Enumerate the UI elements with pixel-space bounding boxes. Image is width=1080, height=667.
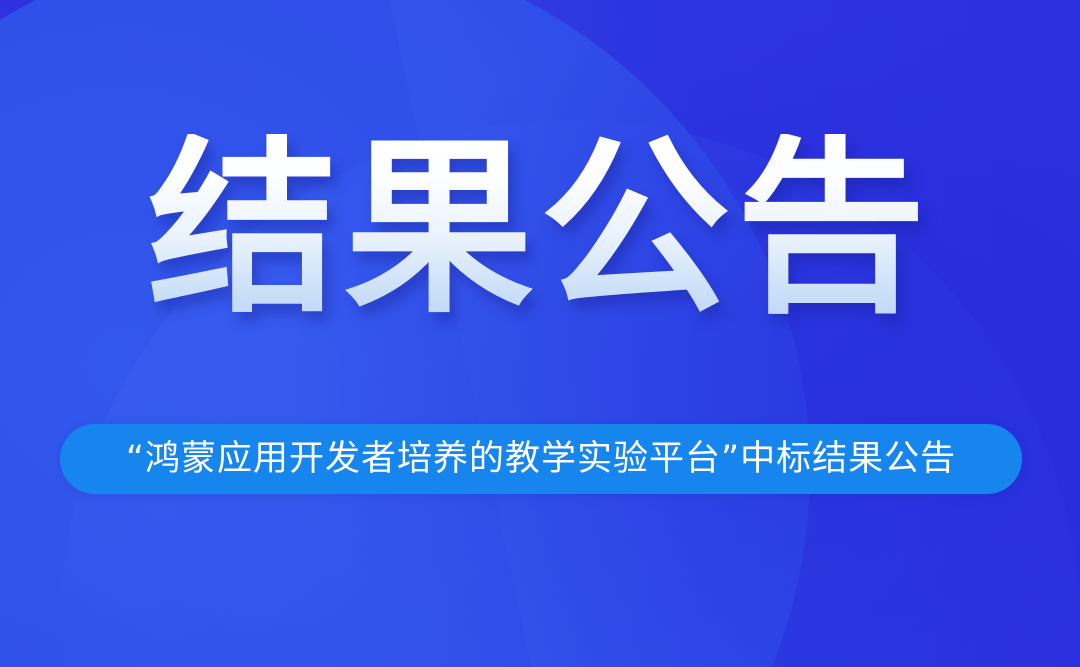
announcement-banner: 结果公告 “鸿蒙应用开发者培养的教学实验平台”中标结果公告 bbox=[0, 0, 1080, 667]
subtitle-pill: “鸿蒙应用开发者培养的教学实验平台”中标结果公告 bbox=[60, 424, 1022, 494]
page-title: 结果公告 bbox=[148, 134, 932, 324]
subtitle-text: “鸿蒙应用开发者培养的教学实验平台”中标结果公告 bbox=[126, 442, 956, 477]
banner-content: 结果公告 bbox=[0, 0, 1080, 667]
